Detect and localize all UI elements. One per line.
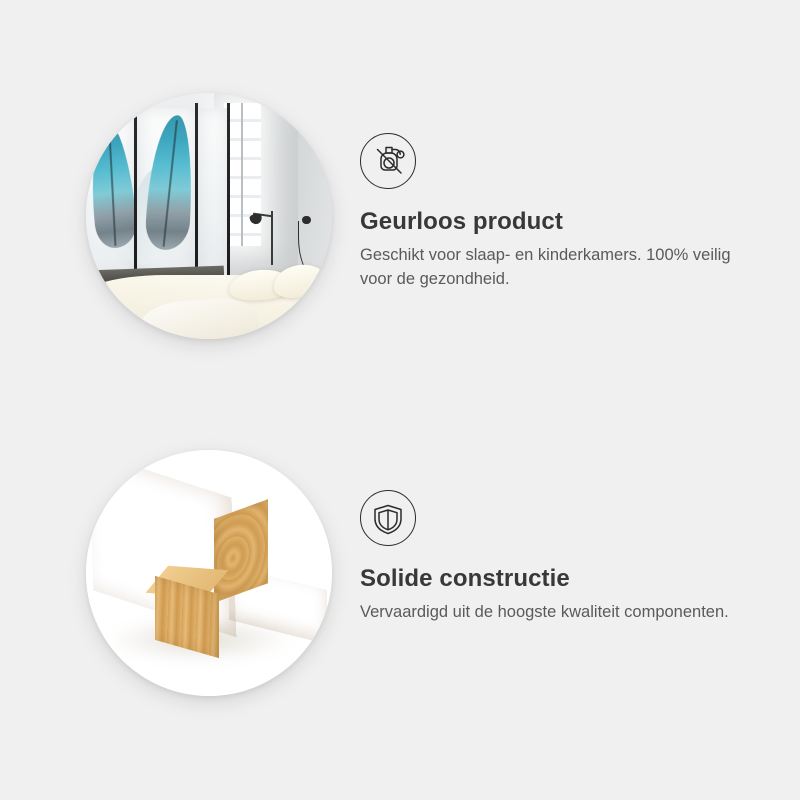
feature-block-odourless: Geurloos product Geschikt voor slaap- en… <box>0 0 800 400</box>
panel-frame-1 <box>134 103 137 290</box>
feature-title: Geurloos product <box>360 208 563 236</box>
feature-description: Vervaardigd uit de hoogste kwaliteit com… <box>360 600 752 624</box>
feature-list-page: Geurloos product Geschikt voor slaap- en… <box>0 0 800 800</box>
feature-title: Solide constructie <box>360 565 570 593</box>
feature-image-bedroom-with-feather-wall-art <box>86 93 332 339</box>
bedroom-scene <box>86 93 332 339</box>
panel-frame-3 <box>227 103 230 290</box>
wooden-beams-scene <box>86 450 332 696</box>
no-fragrance-icon <box>360 133 416 189</box>
art-panel-right <box>199 108 229 280</box>
lamp-stand <box>271 211 273 265</box>
shield-icon <box>360 490 416 546</box>
feature-description: Geschikt voor slaap- en kinderkamers. 10… <box>360 243 752 291</box>
feature-image-wooden-beams <box>86 450 332 696</box>
feature-block-solid-construction: Solide constructie Vervaardigd uit de ho… <box>0 400 800 800</box>
panel-frame-2 <box>195 103 198 290</box>
